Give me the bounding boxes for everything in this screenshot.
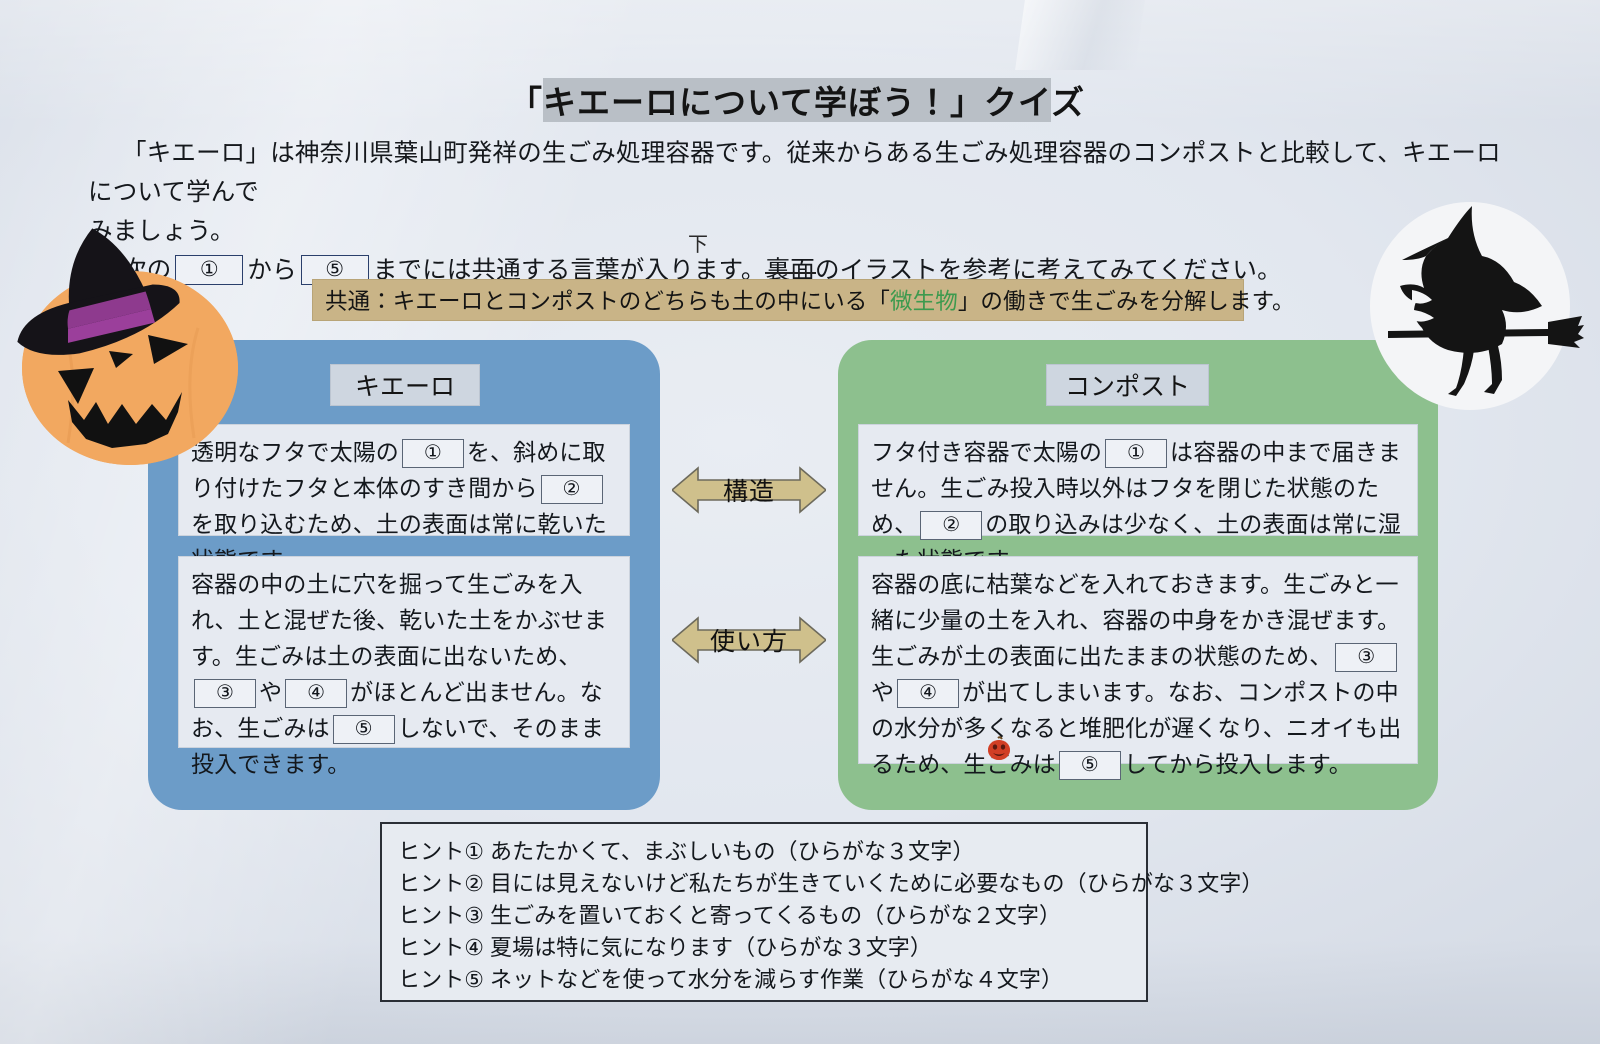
k2-blank-5: ⑤ <box>333 715 395 744</box>
k1-blank-2: ② <box>541 475 603 504</box>
k2-blank-3: ③ <box>194 679 256 708</box>
hints-box: ヒント①あたたかくて、まぶしいもの（ひらがな３文字） ヒント②目には見えないけど… <box>380 822 1148 1002</box>
hint-text-4: 夏場は特に気になります（ひらがな３文字） <box>490 935 932 960</box>
panel-title-kiero: キエーロ <box>330 364 480 406</box>
hint-row-2: ヒント②目には見えないけど私たちが生きていくために必要なもの（ひらがな３文字） <box>398 868 1146 900</box>
hint-text-3: 生ごみを置いておくと寄ってくるもの（ひらがな２文字） <box>490 903 1061 928</box>
hint-label-4: ヒント④ <box>398 932 490 964</box>
hint-label-1: ヒント① <box>398 836 490 868</box>
c1-blank-2: ② <box>920 511 982 540</box>
hint-label-3: ヒント③ <box>398 900 490 932</box>
common-prefix: 共通：キエーロとコンポストのどちらも土の中にいる「 <box>325 284 890 316</box>
hint-text-2: 目には見えないけど私たちが生きていくために必要なもの（ひらがな３文字） <box>490 871 1264 896</box>
compare-arrow-structure: 構造 <box>672 458 826 522</box>
page-title: 「キエーロについて学ぼう！」クイズ <box>543 78 1051 122</box>
arrow-label-structure: 構造 <box>723 472 775 508</box>
intro-line-2: みましょう。 <box>88 212 1508 251</box>
arrow-label-usage: 使い方 <box>710 622 788 658</box>
c1-blank-1: ① <box>1105 439 1167 468</box>
hint-row-3: ヒント③生ごみを置いておくと寄ってくるもの（ひらがな２文字） <box>398 900 1146 932</box>
hint-row-1: ヒント①あたたかくて、まぶしいもの（ひらがな３文字） <box>398 836 1146 868</box>
intro-paragraph: 「キエーロ」は神奈川県葉山町発祥の生ごみ処理容器です。従来からある生ごみ処理容器… <box>88 134 1508 290</box>
c2-t4: してから投入します。 <box>1124 751 1352 777</box>
intro-line-1-text: 「キエーロ」は神奈川県葉山町発祥の生ごみ処理容器です。従来からある生ごみ処理容器… <box>88 140 1501 206</box>
panel-title-compost: コンポスト <box>1046 364 1209 406</box>
k1-blank-1: ① <box>402 439 464 468</box>
c2-t1: 容器の底に枯葉などを入れておきます。生ごみと一緒に少量の土を入れ、容器の中身をか… <box>871 571 1400 669</box>
poster-stage: 「キエーロについて学ぼう！」クイズ 「キエーロ」は神奈川県葉山町発祥の生ごみ処理… <box>0 0 1600 1044</box>
c2-t2: や <box>871 679 894 705</box>
intro-line-3b: から <box>247 257 296 284</box>
hint-text-5: ネットなどを使って水分を減らす作業（ひらがな４文字） <box>490 967 1063 992</box>
compost-structure-textbox: フタ付き容器で太陽の①は容器の中まで届きません。生ごみ投入時以外はフタを閉じた状… <box>858 424 1418 536</box>
common-statement-banner: 共通：キエーロとコンポストのどちらも土の中にいる「微生物」の働きで生ごみを分解し… <box>312 279 1244 321</box>
handwritten-correction-shita: 下 <box>688 225 708 264</box>
c2-blank-4: ④ <box>897 679 959 708</box>
hint-text-1: あたたかくて、まぶしいもの（ひらがな３文字） <box>490 839 974 864</box>
hint-label-5: ヒント⑤ <box>398 964 490 996</box>
compare-arrow-usage: 使い方 <box>672 608 826 672</box>
hint-label-2: ヒント② <box>398 868 490 900</box>
hint-row-5: ヒント⑤ネットなどを使って水分を減らす作業（ひらがな４文字） <box>398 964 1146 996</box>
k2-blank-4: ④ <box>285 679 347 708</box>
c1-t1: フタ付き容器で太陽の <box>871 439 1102 465</box>
small-pumpkin-sticker-icon <box>985 734 1013 762</box>
intro-line-1: 「キエーロ」は神奈川県葉山町発祥の生ごみ処理容器です。従来からある生ごみ処理容器… <box>88 134 1508 212</box>
common-suffix: 」の働きで生ごみを分解します。 <box>958 284 1295 316</box>
kiero-usage-textbox: 容器の中の土に穴を掘って生ごみを入れ、土と混ぜた後、乾いた土をかぶせます。生ごみ… <box>178 556 630 748</box>
hint-row-4: ヒント④夏場は特に気になります（ひらがな３文字） <box>398 932 1146 964</box>
flying-witch-icon <box>1352 198 1588 420</box>
k2-t2: や <box>259 679 282 705</box>
jack-o-lantern-icon <box>2 208 252 470</box>
compost-usage-textbox: 容器の底に枯葉などを入れておきます。生ごみと一緒に少量の土を入れ、容器の中身をか… <box>858 556 1418 764</box>
c2-blank-3: ③ <box>1335 643 1397 672</box>
common-highlight-word: 微生物 <box>890 284 958 316</box>
c2-blank-5: ⑤ <box>1059 751 1121 780</box>
k2-t1: 容器の中の土に穴を掘って生ごみを入れ、土と混ぜた後、乾いた土をかぶせます。生ごみ… <box>191 571 607 669</box>
